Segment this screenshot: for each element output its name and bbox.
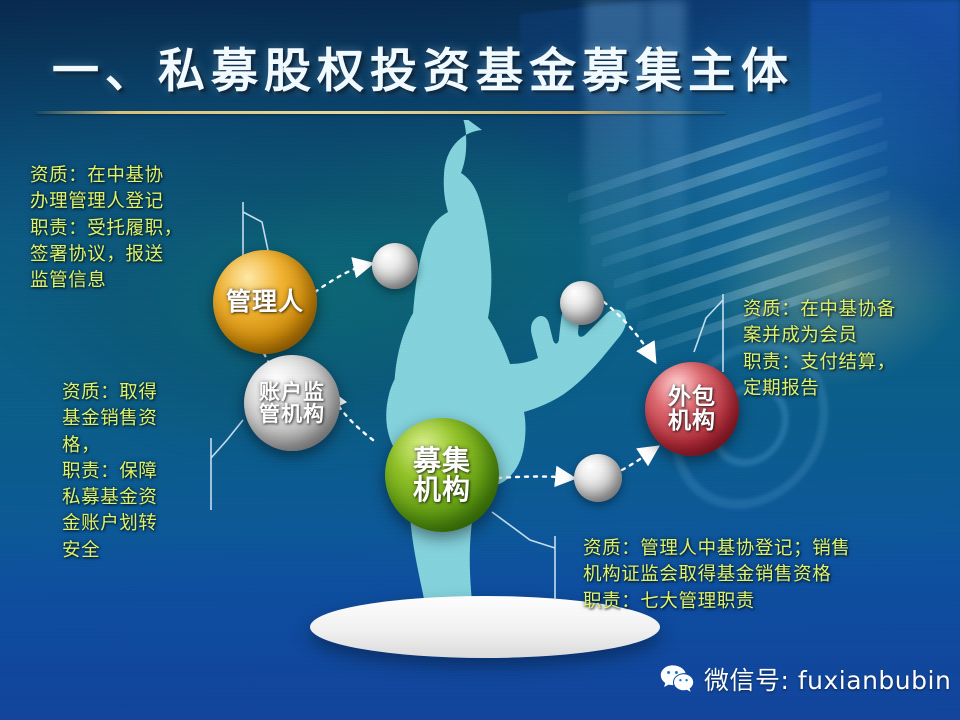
chrome-bead-upper-right <box>560 281 604 325</box>
wechat-icon <box>660 664 694 694</box>
raising-node[interactable]: 募集 机构 <box>385 418 499 532</box>
raising-node-label: 募集 机构 <box>413 446 471 505</box>
custody-node-label: 账户监 管机构 <box>259 381 325 425</box>
note-raising-qualification: 资质：管理人中基协登记；销售 机构证监会取得基金销售资格 职责：七大管理职责 <box>583 536 960 615</box>
chrome-bead-upper-left <box>372 243 418 289</box>
note-custody-qualification: 资质：取得 基金销售资 格， 职责：保障 私募基金资 金账户划转 安全 <box>62 380 212 564</box>
custody-node[interactable]: 账户监 管机构 <box>244 355 340 451</box>
note-manager-qualification: 资质：在中基协 办理管理人登记 职责：受托履职， 签署协议，报送 监管信息 <box>30 163 245 294</box>
note-outsourcing-qualification: 资质：在中基协备 案并成为会员 职责：支付结算， 定期报告 <box>743 297 958 402</box>
watermark-text: 微信号: fuxianbubin <box>704 661 951 697</box>
outsourcing-node-label: 外包 机构 <box>668 385 716 433</box>
chrome-bead-lower-right <box>574 454 622 502</box>
outsourcing-node[interactable]: 外包 机构 <box>645 362 739 456</box>
slide-canvas: 一、私募股权投资基金募集主体 <box>0 0 960 720</box>
watermark: 微信号: fuxianbubin <box>660 661 951 697</box>
